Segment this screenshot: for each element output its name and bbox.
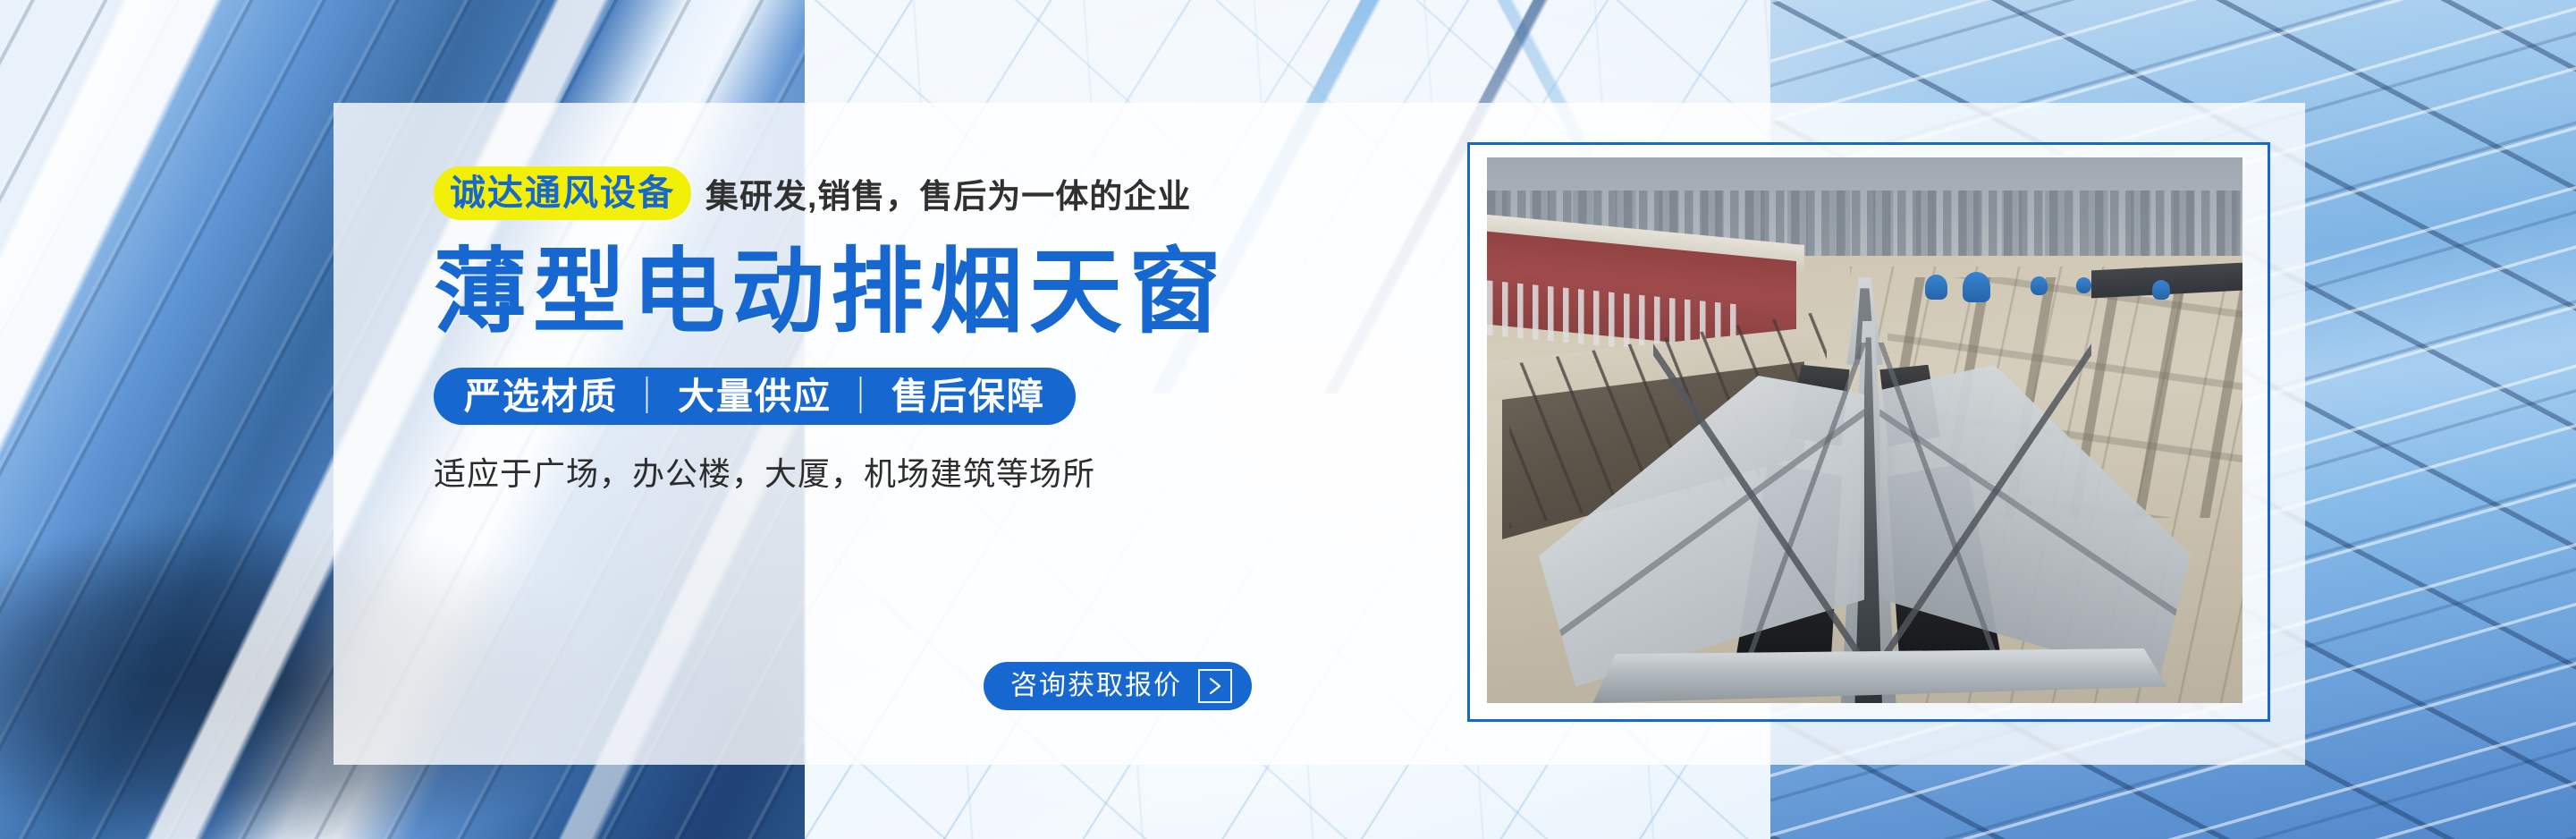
chevron-right-icon (1198, 669, 1232, 703)
subdescription-text: 适应于广场，办公楼，大厦，机场建筑等场所 (434, 448, 1417, 495)
feature-separator-1: ｜ (629, 378, 667, 415)
request-quote-label: 咨询获取报价 (1010, 673, 1182, 699)
photo-roof-fan (2076, 277, 2091, 293)
rooftop-skylight-photo (1487, 157, 2242, 703)
request-quote-button[interactable]: 咨询获取报价 (984, 662, 1252, 710)
photo-cross-braces (1653, 343, 2091, 681)
features-pill: 严选材质 ｜ 大量供应 ｜ 售后保障 (434, 368, 1076, 425)
feature-item-3: 售后保障 (891, 378, 1045, 415)
photo-roof-fan (2152, 280, 2170, 300)
photo-roof-fan (1925, 275, 1947, 300)
promo-banner: 诚达通风设备 集研发,销售，售后为一体的企业 薄型电动排烟天窗 严选材质 ｜ 大… (0, 0, 2576, 839)
page-title: 薄型电动排烟天窗 (434, 241, 1417, 344)
brand-badge: 诚达通风设备 (434, 166, 691, 220)
feature-separator-2: ｜ (842, 378, 881, 415)
tagline-text: 集研发,销售，售后为一体的企业 (705, 169, 1191, 217)
product-photo-frame (1467, 142, 2270, 722)
text-column: 诚达通风设备 集研发,销售，售后为一体的企业 薄型电动排烟天窗 严选材质 ｜ 大… (434, 165, 1417, 495)
tagline-row: 诚达通风设备 集研发,销售，售后为一体的企业 (434, 165, 1417, 221)
photo-roof-fan (1963, 272, 1989, 302)
feature-item-2: 大量供应 (678, 378, 832, 415)
feature-item-1: 严选材质 (464, 378, 618, 415)
photo-roof-fan (2031, 276, 2048, 295)
